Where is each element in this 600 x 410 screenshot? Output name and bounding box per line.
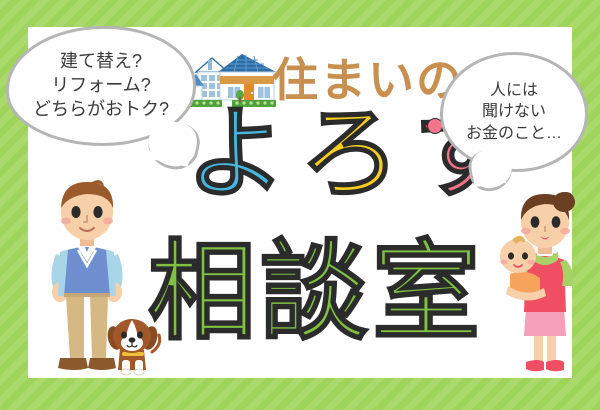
woman-holding-baby-illustration	[492, 190, 584, 378]
dog-illustration	[100, 312, 166, 378]
bubble-left-line-1: 建て替え?	[60, 50, 142, 74]
bubble-right-line-3: お金のこと…	[466, 123, 562, 144]
bubble-right-line-1: 人には	[490, 80, 538, 101]
bubble-right-tail-mask	[472, 161, 507, 187]
question-bubble-left: 建て替え? リフォーム? どちらがおトク?	[6, 26, 196, 146]
bubble-left-line-2: リフォーム?	[51, 74, 150, 98]
headline-char-2: ろ	[300, 98, 414, 210]
bubble-right-line-2: 聞けない	[482, 101, 546, 122]
bubble-left-line-3: どちらがおトク?	[33, 98, 169, 122]
question-bubble-right: 人には 聞けない お金のこと…	[440, 52, 588, 172]
banner-root: 住まいの よろす 相談室 建て替え? リフォーム? どちらがおトク? 人には 聞…	[0, 0, 600, 410]
headline-room: 相談室	[148, 238, 484, 346]
headline-char-1: よ	[186, 98, 300, 210]
